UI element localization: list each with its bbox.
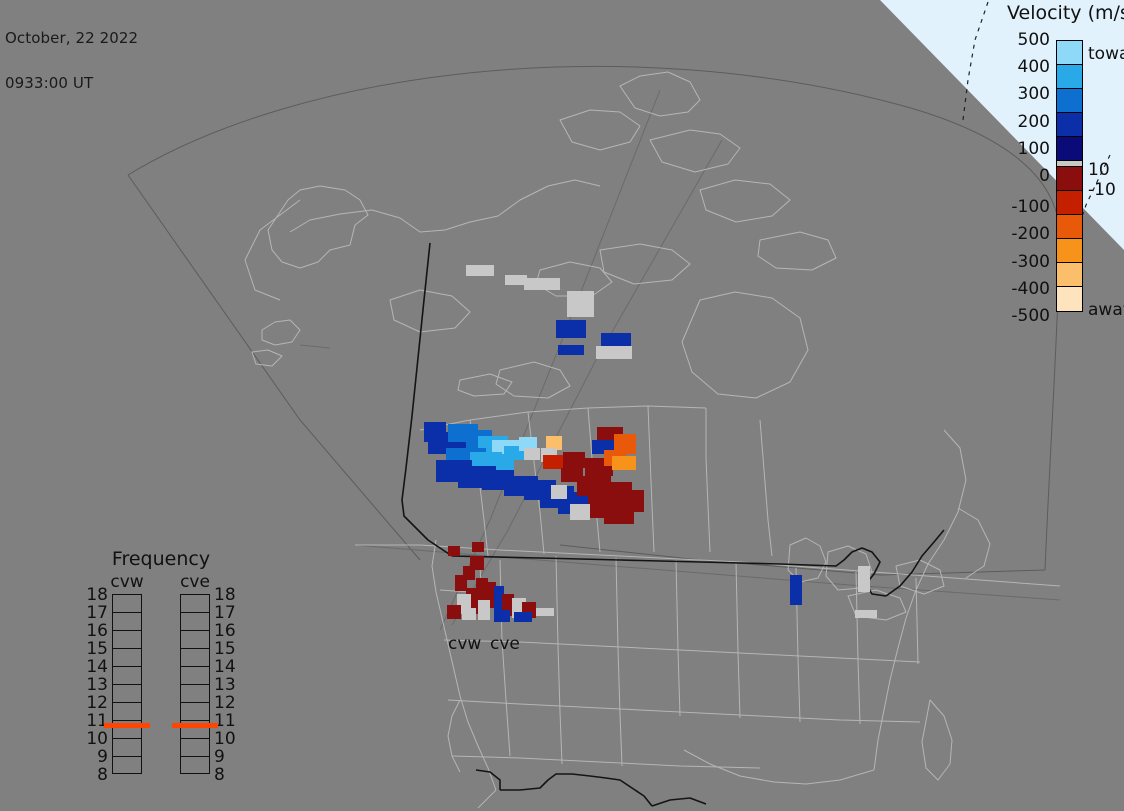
frequency-cell (113, 649, 141, 667)
colorbar-cell-50 (1057, 137, 1082, 161)
radar-cell (855, 610, 877, 618)
frequency-tick-left-13: 13 (82, 675, 108, 695)
frequency-column-title-cve: cve (172, 572, 218, 592)
timestamp-block: October, 22 2022 0933:00 UT (5, 1, 138, 121)
timestamp-date: October, 22 2022 (5, 31, 138, 46)
station-label-cvw: cvw (448, 634, 481, 654)
frequency-cell (113, 739, 141, 757)
colorbar-cell-250 (1057, 89, 1082, 113)
colorbar-cell-350 (1057, 65, 1082, 89)
frequency-tick-left-14: 14 (82, 657, 108, 677)
radar-cell (612, 456, 636, 470)
frequency-tick-left-10: 10 (82, 729, 108, 749)
colorbar-tick-500: 500 (985, 30, 1050, 50)
frequency-cell (113, 595, 141, 613)
frequency-cell (113, 703, 141, 721)
radar-cell (472, 542, 484, 552)
radar-cell (546, 436, 562, 450)
frequency-cell (181, 757, 209, 775)
frequency-cell (181, 595, 209, 613)
frequency-tick-right-13: 13 (214, 675, 240, 695)
frequency-cell (181, 703, 209, 721)
frequency-tick-left-18: 18 (82, 585, 108, 605)
colorbar-mid-positive-label: 10 (1088, 160, 1110, 180)
frequency-tick-left-17: 17 (82, 603, 108, 623)
colorbar-tick--300: -300 (985, 252, 1050, 272)
colorbar-tick--100: -100 (985, 197, 1050, 217)
colorbar-cell-150 (1057, 113, 1082, 137)
frequency-tick-right-9: 9 (214, 747, 240, 767)
radar-cell (536, 608, 554, 616)
colorbar-cell--350 (1057, 239, 1082, 263)
frequency-cell (113, 685, 141, 703)
radar-cell (790, 575, 802, 605)
frequency-legend-title: Frequency (86, 548, 236, 570)
colorbar-cell--500 (1057, 287, 1082, 311)
frequency-cell (113, 757, 141, 775)
timestamp-time: 0933:00 UT (5, 76, 138, 91)
station-label-cve: cve (490, 634, 520, 654)
radar-cell (858, 566, 870, 592)
radar-cell (558, 345, 584, 355)
frequency-tick-left-8: 8 (82, 765, 108, 785)
frequency-tick-right-8: 8 (214, 765, 240, 785)
frequency-marker-cve (172, 723, 218, 728)
frequency-tick-right-16: 16 (214, 621, 240, 641)
radar-cell (447, 605, 461, 619)
colorbar-cell--50 (1057, 167, 1082, 191)
radar-cell (524, 448, 540, 460)
colorbar-tick-400: 400 (985, 57, 1050, 77)
radar-cell (466, 265, 494, 276)
radar-cell (448, 546, 460, 556)
frequency-tick-right-12: 12 (214, 693, 240, 713)
frequency-tick-right-17: 17 (214, 603, 240, 623)
radar-cell (514, 612, 532, 622)
frequency-tick-left-16: 16 (82, 621, 108, 641)
frequency-cell (181, 649, 209, 667)
radar-cell (524, 278, 560, 290)
velocity-colorbar[interactable] (1056, 40, 1083, 312)
radar-cell (543, 455, 563, 469)
frequency-cell (113, 613, 141, 631)
colorbar-tick--200: -200 (985, 224, 1050, 244)
colorbar-title: Velocity (m/s) (1007, 2, 1124, 24)
frequency-tick-right-14: 14 (214, 657, 240, 677)
frequency-tick-left-9: 9 (82, 747, 108, 767)
frequency-cell (181, 667, 209, 685)
frequency-bar-cve[interactable] (180, 594, 210, 774)
radar-cell (462, 608, 476, 620)
colorbar-cell--250 (1057, 215, 1082, 239)
colorbar-tick-100: 100 (985, 139, 1050, 159)
frequency-tick-right-18: 18 (214, 585, 240, 605)
frequency-column-title-cvw: cvw (104, 572, 150, 592)
colorbar-cell--150 (1057, 191, 1082, 215)
frequency-cell (181, 685, 209, 703)
colorbar-cell--450 (1057, 263, 1082, 287)
radar-cell (567, 291, 594, 317)
radar-cell (601, 333, 631, 347)
colorbar-mid-negative-label: -10 (1088, 180, 1116, 200)
frequency-cell (113, 667, 141, 685)
frequency-cell (181, 739, 209, 757)
frequency-legend: Frequency cvw cve 18171615141312111098 1… (86, 548, 236, 786)
radar-cell (455, 575, 467, 591)
radar-cell (478, 600, 490, 620)
colorbar-tick--400: -400 (985, 279, 1050, 299)
frequency-tick-right-10: 10 (214, 729, 240, 749)
colorbar-cell-450 (1057, 41, 1082, 65)
colorbar-toward-label: toward (1088, 44, 1124, 64)
frequency-cell (113, 631, 141, 649)
frequency-cell (181, 631, 209, 649)
colorbar-tick--500: -500 (985, 306, 1050, 326)
radar-map-canvas: October, 22 2022 0933:00 UT cvw cve Velo… (0, 0, 1124, 811)
radar-cell (596, 346, 632, 359)
radar-cell (494, 610, 510, 622)
frequency-cell (181, 613, 209, 631)
colorbar-tick-200: 200 (985, 112, 1050, 132)
radar-cell (604, 508, 634, 524)
colorbar-away-label: away (1088, 300, 1124, 320)
radar-cell (563, 452, 585, 468)
frequency-tick-left-15: 15 (82, 639, 108, 659)
colorbar-tick-0: 0 (985, 166, 1050, 186)
radar-cell (505, 275, 527, 285)
radar-cell (570, 504, 590, 520)
frequency-bar-cvw[interactable] (112, 594, 142, 774)
radar-cell (556, 320, 586, 338)
frequency-marker-cvw (104, 723, 150, 728)
frequency-tick-left-12: 12 (82, 693, 108, 713)
colorbar-tick-300: 300 (985, 84, 1050, 104)
frequency-tick-right-15: 15 (214, 639, 240, 659)
radar-cell (551, 485, 567, 499)
